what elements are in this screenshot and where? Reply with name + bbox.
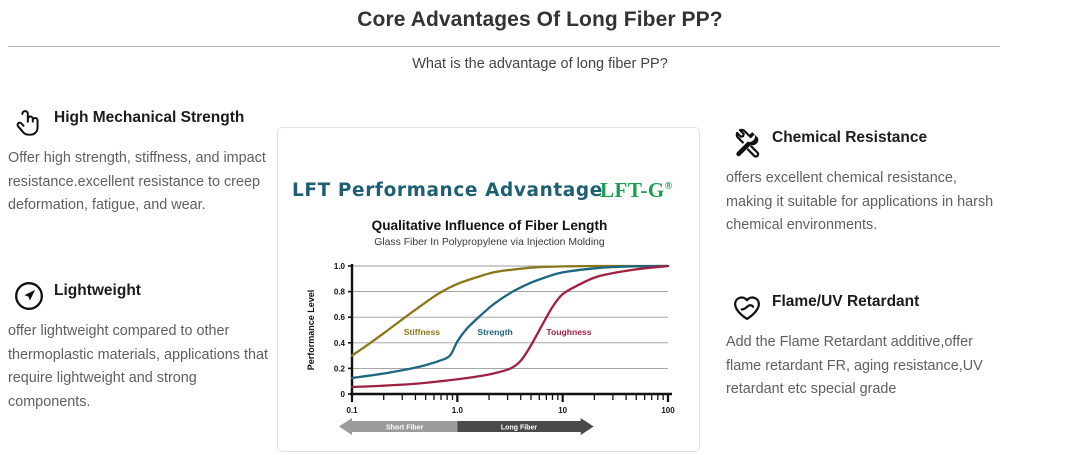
feature-body: Add the Flame Retardant additive,offer f… xyxy=(726,331,994,402)
x-tick-label: 1.0 xyxy=(452,406,464,415)
x-tick-label: 10 xyxy=(558,406,567,415)
y-tick-label: 1.0 xyxy=(334,262,346,271)
feature-title: Chemical Resistance xyxy=(772,129,927,146)
feature-header: Lightweight xyxy=(8,277,270,311)
chart-plot-area: 00.20.40.60.81.0Performance Level0.11.01… xyxy=(300,256,680,441)
heart-shield-icon xyxy=(728,288,766,326)
series-label-toughness: Toughness xyxy=(546,327,591,337)
feature-header: High Mechanical Strength xyxy=(8,104,270,138)
fiber-band-short-fiber: Short Fiber xyxy=(339,418,457,435)
feature-high-mechanical-strength: High Mechanical Strength Offer high stre… xyxy=(8,104,270,218)
feature-body: offer lightweight compared to other ther… xyxy=(8,320,270,414)
chart-card[interactable]: LFT Performance Advantage LFT-G® Qualita… xyxy=(277,127,700,452)
y-tick-label: 0.8 xyxy=(334,288,346,297)
feature-chemical-resistance: Chemical Resistance offers excellent che… xyxy=(726,124,994,238)
series-label-strength: Strength xyxy=(477,327,512,337)
feature-flame-uv-retardant: Flame/UV Retardant Add the Flame Retarda… xyxy=(726,288,994,402)
tools-wrench-screwdriver-icon xyxy=(728,124,766,162)
y-tick-label: 0 xyxy=(341,390,346,399)
fiber-band-long-fiber: Long Fiber xyxy=(457,418,593,435)
feature-title: Flame/UV Retardant xyxy=(772,293,919,310)
chart-svg: 00.20.40.60.81.0Performance Level0.11.01… xyxy=(300,256,680,441)
feature-title: Lightweight xyxy=(54,282,141,299)
chart-subtitle: Glass Fiber In Polypropylene via Injecti… xyxy=(278,237,700,248)
feature-title: High Mechanical Strength xyxy=(54,109,244,126)
feature-body: Offer high strength, stiffness, and impa… xyxy=(8,147,270,218)
page-subtitle: What is the advantage of long fiber PP? xyxy=(0,56,1080,72)
page-root: Core Advantages Of Long Fiber PP? What i… xyxy=(0,0,1080,455)
navigation-compass-icon xyxy=(10,277,48,315)
feature-lightweight: Lightweight offer lightweight compared t… xyxy=(8,277,270,414)
feature-header: Chemical Resistance xyxy=(726,124,994,158)
y-tick-label: 0.4 xyxy=(334,339,346,348)
page-title: Core Advantages Of Long Fiber PP? xyxy=(0,8,1080,32)
hand-pointer-icon xyxy=(10,104,48,142)
x-tick-label: 0.1 xyxy=(346,406,358,415)
chart-title: Qualitative Influence of Fiber Length xyxy=(278,218,700,233)
y-tick-label: 0.6 xyxy=(334,313,346,322)
x-tick-label: 100 xyxy=(661,406,675,415)
chart-brand-logo-text: LFT-G xyxy=(600,178,665,202)
title-divider xyxy=(8,46,1000,47)
fiber-band-label: Long Fiber xyxy=(501,425,537,432)
fiber-band-label: Short Fiber xyxy=(386,425,424,432)
feature-header: Flame/UV Retardant xyxy=(726,288,994,322)
series-curve-stiffness xyxy=(352,266,668,356)
chart-brand-line: LFT Performance Advantage LFT-G® xyxy=(278,180,700,210)
chart-brand-heading: LFT Performance Advantage xyxy=(292,180,603,201)
registered-mark-icon: ® xyxy=(665,181,673,192)
y-tick-label: 0.2 xyxy=(334,364,346,373)
series-label-stiffness: Stiffness xyxy=(404,327,441,337)
y-axis-label: Performance Level xyxy=(306,290,316,371)
chart-brand-logo: LFT-G® xyxy=(600,178,673,203)
chart-inner: LFT Performance Advantage LFT-G® Qualita… xyxy=(278,128,699,451)
feature-body: offers excellent chemical resistance, ma… xyxy=(726,167,994,238)
